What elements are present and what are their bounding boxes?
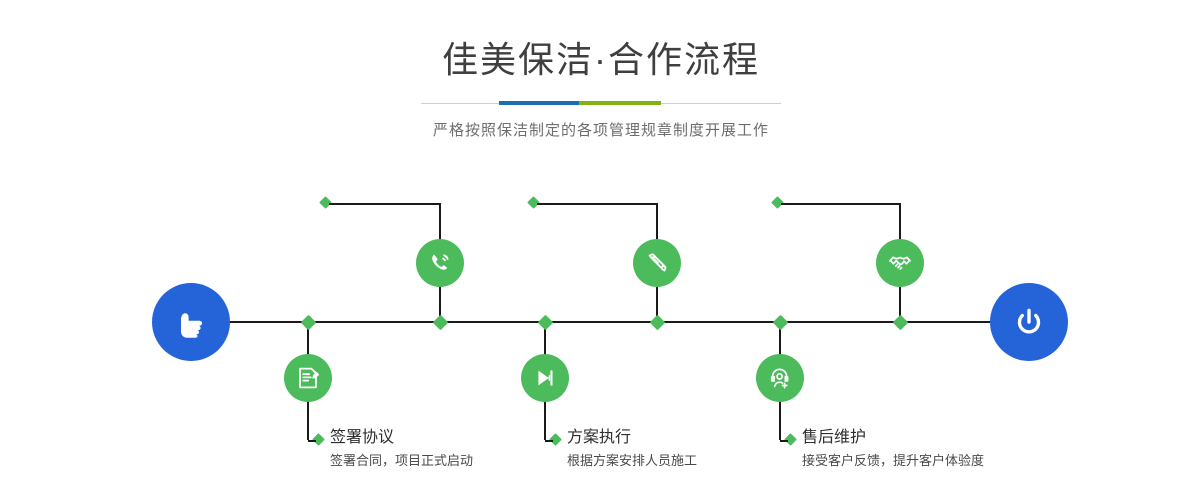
- step-label: 方案执行根据方案安排人员施工: [567, 427, 697, 470]
- step-description: 接受客户反馈，提升客户体验度: [802, 451, 984, 470]
- label-marker-diamond: [771, 196, 784, 209]
- timeline-end-endpoint[interactable]: [990, 283, 1068, 361]
- phone-call-icon[interactable]: [416, 239, 464, 287]
- timeline: 签署协议签署合同，项目正式启动电话咨询阐明基本情况和需求方案执行根据方案安排人员…: [0, 0, 1202, 502]
- label-marker-diamond: [784, 433, 797, 446]
- node-horizontal-connector: [537, 203, 657, 205]
- timeline-start-endpoint[interactable]: [152, 283, 230, 361]
- step-label: 签署协议签署合同，项目正式启动: [330, 427, 473, 470]
- node-horizontal-connector: [308, 440, 316, 442]
- step-description: 根据方案安排人员施工: [567, 451, 697, 470]
- axis-marker-diamond: [537, 314, 553, 330]
- label-marker-diamond: [319, 196, 332, 209]
- axis-marker-diamond: [892, 314, 908, 330]
- power-icon: [1007, 300, 1051, 344]
- axis-marker-diamond: [772, 314, 788, 330]
- axis-marker-diamond: [432, 314, 448, 330]
- pointing-hand-icon: [169, 300, 213, 344]
- document-edit-icon[interactable]: [284, 354, 332, 402]
- node-horizontal-connector: [329, 203, 440, 205]
- node-horizontal-connector: [545, 440, 553, 442]
- label-marker-diamond: [312, 433, 325, 446]
- play-execute-icon[interactable]: [521, 354, 569, 402]
- label-marker-diamond: [527, 196, 540, 209]
- label-marker-diamond: [549, 433, 562, 446]
- node-horizontal-connector: [780, 440, 788, 442]
- step-label: 售后维护接受客户反馈，提升客户体验度: [802, 427, 984, 470]
- pencil-ruler-icon[interactable]: [633, 239, 681, 287]
- step-title: 售后维护: [802, 427, 984, 448]
- step-description: 签署合同，项目正式启动: [330, 451, 473, 470]
- node-horizontal-connector: [781, 203, 900, 205]
- customer-service-icon[interactable]: [756, 354, 804, 402]
- step-title: 签署协议: [330, 427, 473, 448]
- process-flow-infographic: 佳美保洁·合作流程 严格按照保洁制定的各项管理规章制度开展工作: [0, 0, 1202, 502]
- axis-marker-diamond: [300, 314, 316, 330]
- step-title: 方案执行: [567, 427, 697, 448]
- handshake-icon[interactable]: [876, 239, 924, 287]
- axis-marker-diamond: [649, 314, 665, 330]
